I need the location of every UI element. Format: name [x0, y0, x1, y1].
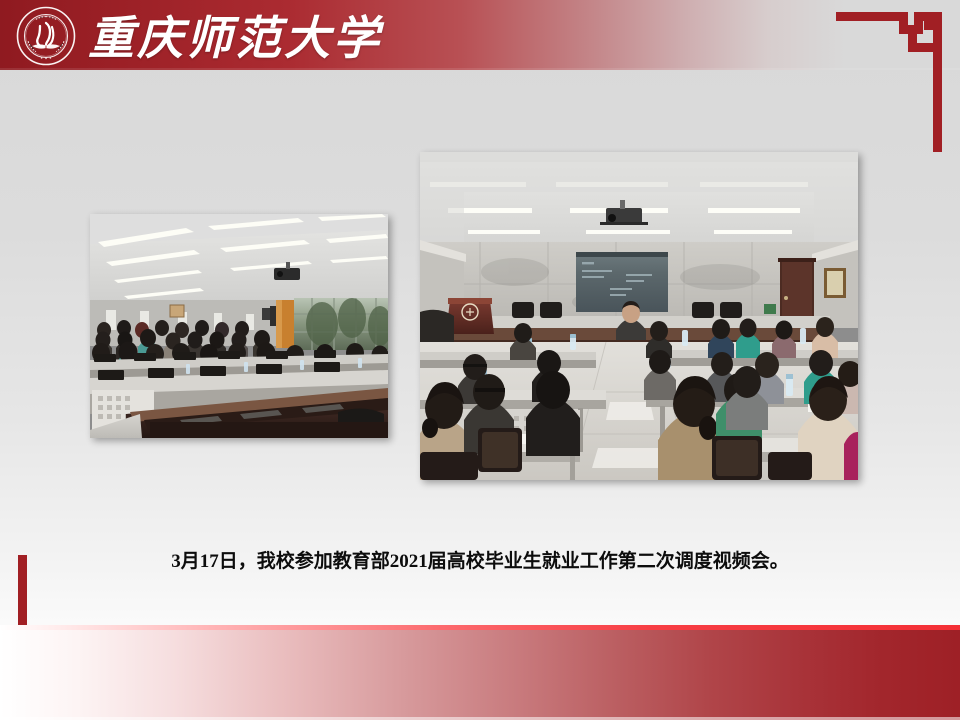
slide-caption: 3月17日，我校参加教育部2021届高校毕业生就业工作第二次调度视频会。 [0, 546, 960, 573]
photo-right [420, 152, 858, 480]
decorative-corner-top-right-icon [836, 12, 942, 152]
photo-left [90, 214, 388, 438]
slide-canvas: 重庆师范大学 [0, 0, 960, 720]
school-name-title: 重庆师范大学 [88, 4, 382, 66]
university-seal-icon [16, 6, 76, 66]
footer-band [0, 630, 960, 720]
